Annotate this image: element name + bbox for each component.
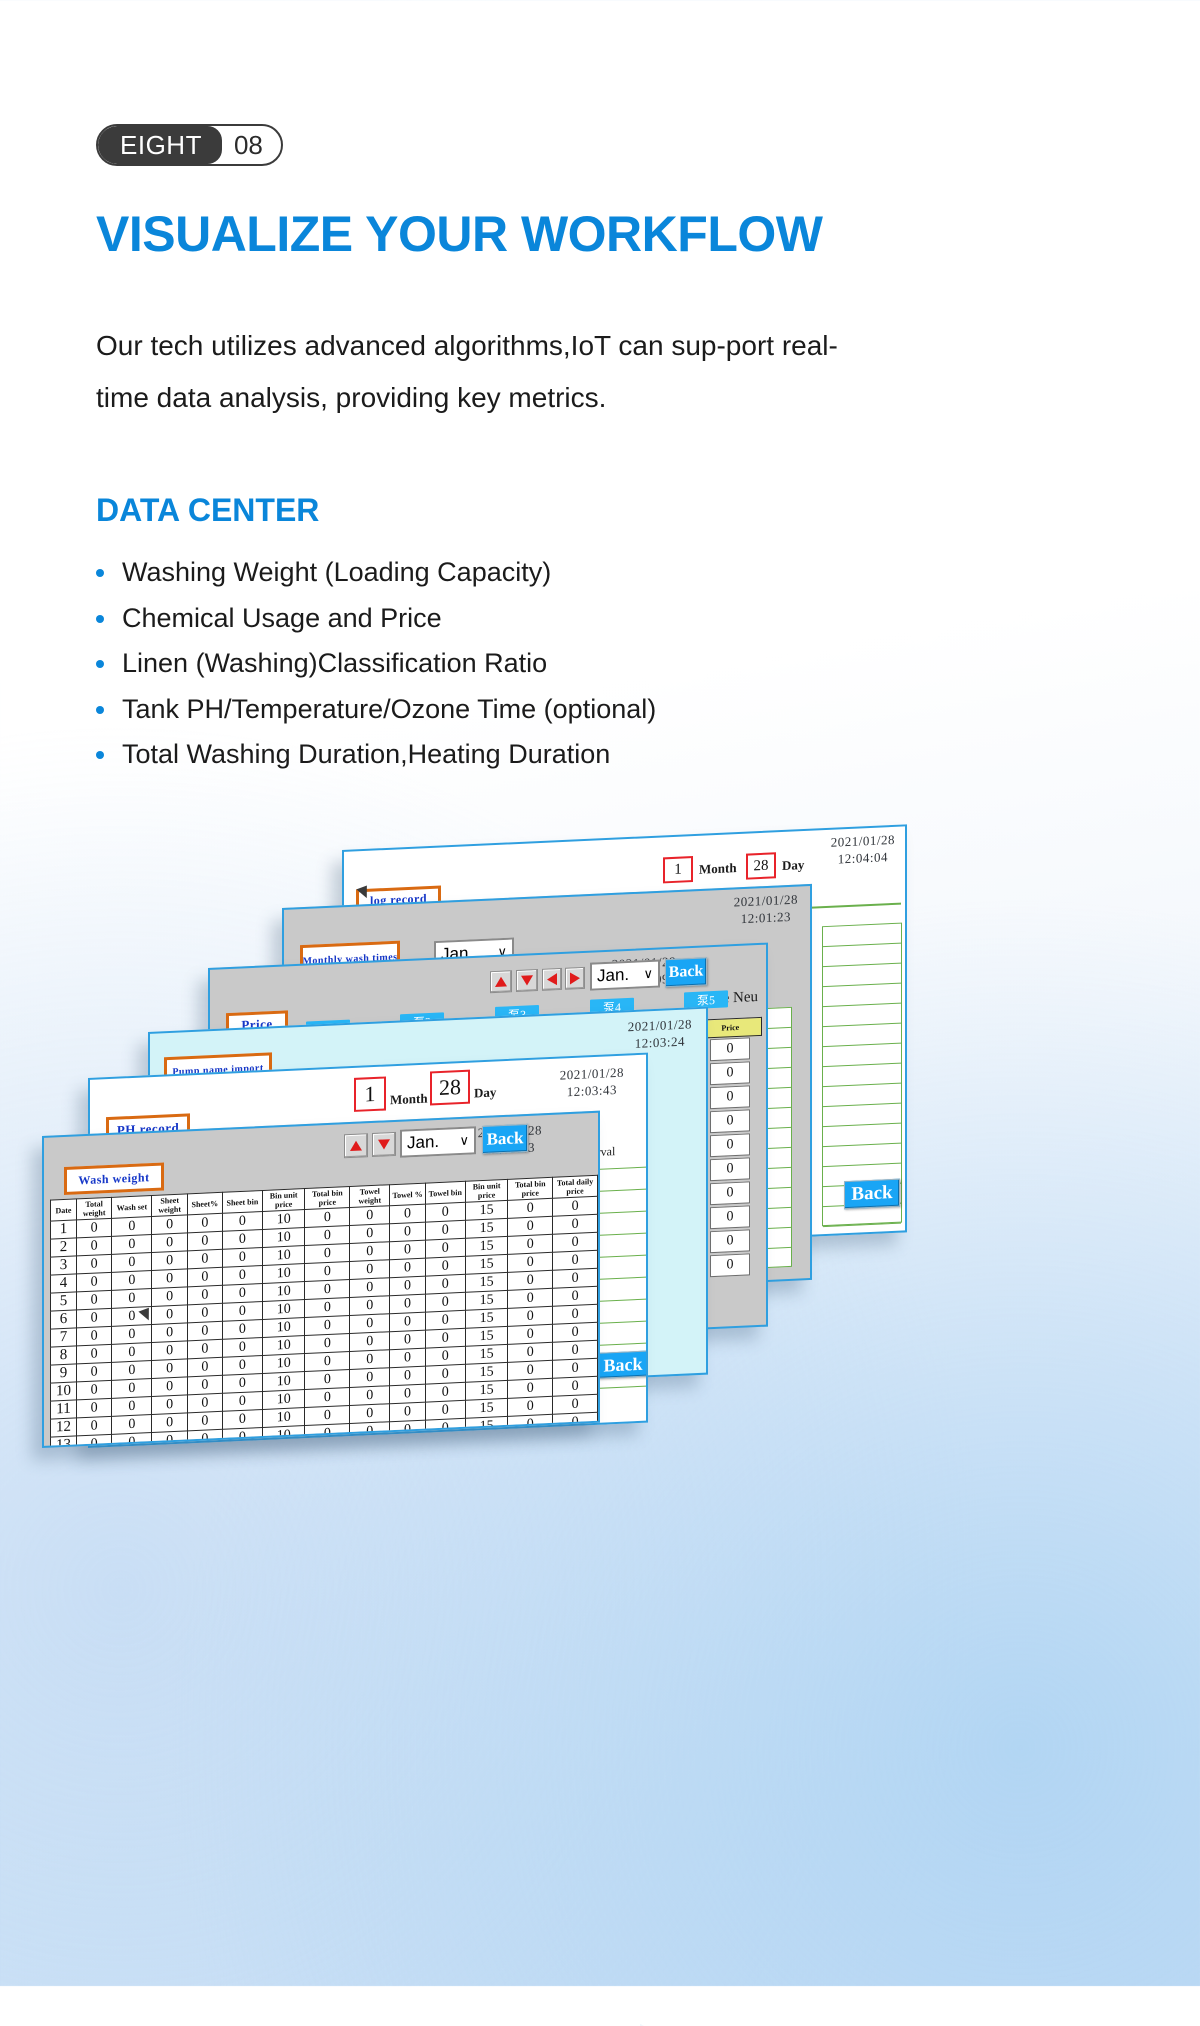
value-cell[interactable]: 0 — [350, 1350, 390, 1370]
value-cell[interactable]: 0 — [508, 1360, 553, 1380]
value-cell[interactable]: 15 — [465, 1236, 507, 1256]
value-cell[interactable]: 0 — [425, 1400, 465, 1420]
value-cell[interactable]: 0 — [710, 1061, 750, 1085]
list-item: Tank PH/Temperature/Ozone Time (optional… — [96, 687, 656, 733]
scroll-down-button[interactable] — [516, 969, 538, 992]
row-index-cell: 11 — [51, 1400, 77, 1419]
value-cell[interactable]: 0 — [350, 1260, 390, 1280]
value-cell[interactable]: 0 — [425, 1328, 465, 1348]
row-index-cell: 8 — [51, 1346, 77, 1365]
value-cell[interactable]: 0 — [508, 1324, 553, 1344]
col-total-daily-price: Total daily price — [553, 1175, 598, 1198]
bullet-dot-icon — [96, 706, 104, 714]
month-select-price[interactable]: Jan. ∨ — [590, 959, 660, 990]
triangle-left-icon — [547, 973, 557, 985]
value-cell[interactable]: 0 — [425, 1436, 465, 1448]
value-cell[interactable]: 0 — [710, 1181, 750, 1205]
value-cell[interactable]: 0 — [553, 1430, 598, 1448]
monthly-wash-timestamp: 2021/01/28 12:01:23 — [734, 891, 798, 928]
value-cell[interactable]: 0 — [112, 1289, 152, 1309]
value-cell[interactable]: 0 — [350, 1206, 390, 1226]
value-cell[interactable]: 0 — [425, 1238, 465, 1258]
value-cell[interactable]: 0 — [390, 1312, 425, 1332]
value-cell[interactable]: 0 — [710, 1205, 750, 1229]
value-cell[interactable]: 0 — [76, 1344, 111, 1364]
value-cell[interactable]: 0 — [508, 1234, 553, 1254]
value-cell[interactable]: 10 — [262, 1390, 304, 1410]
value-cell[interactable]: 0 — [305, 1370, 350, 1390]
value-cell[interactable]: 0 — [187, 1321, 222, 1341]
back-button-price[interactable]: Back — [665, 957, 707, 987]
value-cell[interactable]: 0 — [222, 1337, 262, 1357]
value-cell[interactable]: 0 — [222, 1301, 262, 1321]
value-cell[interactable]: 0 — [76, 1416, 111, 1436]
timestamp-date: 2021/01/28 — [560, 1065, 624, 1083]
value-cell[interactable]: 0 — [508, 1252, 553, 1272]
value-cell[interactable]: 10 — [262, 1246, 304, 1266]
value-cell[interactable]: 0 — [222, 1373, 262, 1393]
value-cell[interactable]: 0 — [305, 1316, 350, 1336]
value-cell[interactable]: 0 — [222, 1247, 262, 1267]
value-cell[interactable]: 0 — [152, 1341, 187, 1361]
col-date: Date — [51, 1199, 77, 1221]
value-cell[interactable]: 0 — [390, 1204, 425, 1224]
value-cell[interactable]: 0 — [553, 1340, 598, 1360]
value-cell[interactable]: 0 — [187, 1375, 222, 1395]
value-cell[interactable]: 0 — [710, 1229, 750, 1253]
triangle-down-icon — [521, 975, 533, 986]
col-bin-unit-price: Bin unit price — [465, 1179, 507, 1202]
value-cell[interactable]: 0 — [305, 1262, 350, 1282]
value-cell[interactable]: 0 — [152, 1431, 187, 1448]
value-cell[interactable]: 0 — [187, 1285, 222, 1305]
value-cell[interactable]: 10 — [262, 1318, 304, 1338]
value-cell[interactable]: 0 — [508, 1216, 553, 1236]
value-cell[interactable]: 0 — [152, 1215, 187, 1235]
month-label: Month — [699, 860, 737, 878]
value-cell[interactable]: 0 — [508, 1270, 553, 1290]
value-cell[interactable]: 0 — [112, 1415, 152, 1435]
value-cell[interactable]: 0 — [350, 1368, 390, 1388]
value-cell[interactable]: 0 — [350, 1296, 390, 1316]
col-total-weight: Total weight — [76, 1197, 111, 1220]
value-cell[interactable]: 15 — [465, 1272, 507, 1292]
value-cell[interactable]: 0 — [390, 1276, 425, 1296]
value-cell[interactable]: 0 — [425, 1310, 465, 1330]
bullet-dot-icon — [96, 615, 104, 623]
value-cell[interactable]: 10 — [262, 1228, 304, 1248]
value-cell[interactable]: 0 — [508, 1342, 553, 1362]
scroll-up-button-wash[interactable] — [344, 1133, 368, 1158]
log-record-timestamp: 2021/01/28 12:04:04 — [831, 831, 895, 868]
list-item: Total Washing Duration,Heating Duration — [96, 732, 656, 778]
value-cell[interactable]: 0 — [553, 1358, 598, 1378]
value-cell[interactable]: 0 — [305, 1244, 350, 1264]
list-item-label: Linen (Washing)Classification Ratio — [122, 648, 547, 678]
day-label: Day — [782, 857, 804, 874]
col-sheet: Sheet% — [187, 1192, 222, 1215]
value-cell[interactable]: 0 — [187, 1267, 222, 1287]
value-cell[interactable]: 0 — [76, 1290, 111, 1310]
value-cell[interactable]: 0 — [553, 1304, 598, 1324]
value-cell[interactable]: 0 — [390, 1420, 425, 1440]
value-cell[interactable]: 0 — [553, 1250, 598, 1270]
value-cell[interactable]: 15 — [465, 1344, 507, 1364]
row-index-cell: 13 — [51, 1436, 77, 1448]
value-cell[interactable]: 0 — [553, 1214, 598, 1234]
value-cell[interactable]: 0 — [187, 1213, 222, 1233]
chevron-down-icon: ∨ — [643, 966, 653, 982]
month-input-ph[interactable]: 1 — [354, 1076, 386, 1111]
bullet-dot-icon — [96, 751, 104, 759]
value-cell[interactable]: 0 — [508, 1378, 553, 1398]
panel-wash-weight[interactable]: 2021/01/28 12:01:43 Jan. ∨ Back Wash wei… — [42, 1111, 600, 1448]
value-cell[interactable]: 0 — [350, 1332, 390, 1352]
value-cell[interactable]: 0 — [222, 1319, 262, 1339]
value-cell[interactable]: 0 — [390, 1366, 425, 1386]
row-index-cell: 9 — [51, 1364, 77, 1383]
value-cell[interactable]: 0 — [390, 1258, 425, 1278]
value-cell[interactable]: 0 — [187, 1303, 222, 1323]
value-cell[interactable]: 0 — [305, 1424, 350, 1444]
value-cell[interactable]: 0 — [425, 1292, 465, 1312]
value-cell[interactable]: 0 — [508, 1288, 553, 1308]
row-index-cell: 7 — [51, 1328, 77, 1347]
value-cell[interactable]: 0 — [187, 1249, 222, 1269]
day-label-ph: Day — [474, 1084, 496, 1101]
value-cell[interactable]: 0 — [553, 1394, 598, 1414]
value-cell[interactable]: 10 — [262, 1336, 304, 1356]
value-cell[interactable]: 0 — [76, 1326, 111, 1346]
month-input[interactable]: 1 — [663, 856, 693, 883]
triangle-up-icon — [350, 1140, 362, 1151]
value-cell[interactable]: 0 — [187, 1393, 222, 1413]
ph-record-timestamp: 2021/01/28 12:03:43 — [560, 1064, 624, 1101]
value-cell[interactable]: 10 — [262, 1300, 304, 1320]
list-item-label: Chemical Usage and Price — [122, 603, 442, 633]
timestamp-date: 2021/01/28 — [628, 1016, 692, 1034]
value-cell[interactable]: 0 — [425, 1202, 465, 1222]
month-select-value: Jan. — [597, 965, 629, 986]
col-wash-set: Wash set — [112, 1196, 152, 1219]
value-cell[interactable]: 0 — [222, 1229, 262, 1249]
row-index-cell: 10 — [51, 1382, 77, 1401]
value-cell[interactable]: 10 — [262, 1282, 304, 1302]
value-cell[interactable]: 0 — [112, 1253, 152, 1273]
month-select-wash-weight[interactable]: Jan. ∨ — [400, 1126, 476, 1157]
back-button-wash-weight[interactable]: Back — [482, 1124, 528, 1154]
value-cell[interactable]: 0 — [222, 1265, 262, 1285]
value-cell[interactable]: 0 — [152, 1287, 187, 1307]
value-cell[interactable]: 0 — [152, 1323, 187, 1343]
value-cell[interactable]: 0 — [425, 1256, 465, 1276]
value-cell[interactable]: 0 — [390, 1384, 425, 1404]
col-sheet-weight: Sheet weight — [152, 1194, 187, 1217]
value-cell[interactable]: 0 — [187, 1357, 222, 1377]
value-cell[interactable]: 10 — [262, 1264, 304, 1284]
value-cell[interactable]: 0 — [425, 1382, 465, 1402]
value-cell[interactable]: 15 — [465, 1434, 507, 1448]
month-label-ph: Month — [390, 1091, 428, 1109]
value-cell[interactable]: 0 — [508, 1198, 553, 1218]
value-cell[interactable]: 15 — [465, 1254, 507, 1274]
value-cell[interactable]: 0 — [76, 1308, 111, 1328]
row-index-cell: 3 — [51, 1256, 77, 1275]
value-cell[interactable]: 0 — [305, 1442, 350, 1448]
value-cell[interactable]: 0 — [710, 1109, 750, 1133]
value-cell[interactable]: 0 — [350, 1314, 390, 1334]
page-title: VISUALIZE YOUR WORKFLOW — [96, 205, 822, 263]
triangle-up-icon — [495, 976, 507, 987]
triangle-right-icon — [570, 972, 580, 984]
value-cell[interactable]: 0 — [152, 1233, 187, 1253]
value-cell[interactable]: 0 — [350, 1404, 390, 1424]
value-cell[interactable]: 0 — [76, 1272, 111, 1292]
value-cell[interactable]: 0 — [710, 1085, 750, 1109]
value-cell[interactable]: 0 — [390, 1438, 425, 1448]
list-item: Washing Weight (Loading Capacity) — [96, 550, 656, 596]
value-cell[interactable]: 0 — [152, 1251, 187, 1271]
value-cell[interactable]: 0 — [508, 1306, 553, 1326]
value-cell[interactable]: 0 — [553, 1268, 598, 1288]
value-cell[interactable]: 0 — [152, 1305, 187, 1325]
col-towel-weight: Towel weight — [350, 1185, 390, 1208]
value-cell[interactable]: 0 — [508, 1432, 553, 1448]
value-cell[interactable]: 15 — [465, 1416, 507, 1436]
value-cell[interactable]: 0 — [553, 1286, 598, 1306]
value-cell[interactable]: 0 — [222, 1409, 262, 1429]
value-cell[interactable]: 0 — [390, 1348, 425, 1368]
value-cell[interactable]: 0 — [553, 1322, 598, 1342]
value-cell[interactable]: 0 — [305, 1388, 350, 1408]
value-cell[interactable]: 0 — [222, 1427, 262, 1447]
value-cell[interactable]: 0 — [112, 1397, 152, 1417]
value-cell[interactable]: 0 — [350, 1386, 390, 1406]
value-cell[interactable]: 0 — [112, 1235, 152, 1255]
badge-number: 08 — [222, 126, 281, 164]
value-cell[interactable]: 0 — [508, 1414, 553, 1434]
value-cell[interactable]: 0 — [553, 1232, 598, 1252]
panel-tag-wash-weight[interactable]: Wash weight — [64, 1162, 164, 1195]
value-cell[interactable]: 15 — [465, 1326, 507, 1346]
value-cell[interactable]: 0 — [425, 1418, 465, 1438]
value-cell[interactable]: 0 — [76, 1398, 111, 1418]
row-index-cell: 2 — [51, 1238, 77, 1257]
feature-list: Washing Weight (Loading Capacity) Chemic… — [96, 550, 656, 778]
value-cell[interactable]: 0 — [710, 1253, 750, 1277]
value-cell[interactable]: 0 — [187, 1411, 222, 1431]
value-cell[interactable]: 0 — [76, 1218, 111, 1238]
value-cell[interactable]: 0 — [390, 1240, 425, 1260]
value-cell[interactable]: 0 — [222, 1211, 262, 1231]
value-cell[interactable]: 15 — [465, 1362, 507, 1382]
scroll-right-button[interactable] — [565, 967, 585, 990]
bullet-dot-icon — [96, 569, 104, 577]
back-button-ph-record[interactable]: Back — [598, 1351, 648, 1379]
value-cell[interactable]: 0 — [390, 1222, 425, 1242]
value-cell[interactable]: 0 — [553, 1376, 598, 1396]
value-cell[interactable]: 0 — [305, 1406, 350, 1426]
row-index-cell: 1 — [51, 1220, 77, 1239]
value-cell[interactable]: 0 — [152, 1269, 187, 1289]
day-input[interactable]: 28 — [746, 852, 776, 879]
badge-word: EIGHT — [98, 126, 222, 164]
timestamp-date: 2021/01/28 — [831, 832, 895, 850]
col-towel: Towel % — [390, 1183, 425, 1206]
value-cell[interactable]: 0 — [305, 1226, 350, 1246]
value-cell[interactable]: 15 — [465, 1200, 507, 1220]
value-cell[interactable]: 0 — [76, 1380, 111, 1400]
hmi-screenshot-stack: 2021/01/28 12:04:04 1 Month 28 Day log r… — [0, 840, 1200, 1986]
value-cell[interactable]: 0 — [187, 1429, 222, 1448]
value-cell[interactable]: 0 — [152, 1395, 187, 1415]
value-cell[interactable]: 0 — [187, 1231, 222, 1251]
value-cell[interactable]: 0 — [710, 1133, 750, 1157]
value-cell[interactable]: 10 — [262, 1354, 304, 1374]
bullet-dot-icon — [96, 660, 104, 668]
value-cell[interactable]: 0 — [390, 1330, 425, 1350]
chevron-down-icon: ∨ — [459, 1133, 469, 1149]
value-cell[interactable]: 0 — [390, 1402, 425, 1422]
timestamp-time: 12:01:23 — [741, 909, 791, 926]
value-cell[interactable]: 0 — [76, 1236, 111, 1256]
value-cell[interactable]: 10 — [262, 1210, 304, 1230]
timestamp-time: 12:03:43 — [567, 1082, 617, 1099]
value-cell[interactable]: 0 — [187, 1339, 222, 1359]
value-cell[interactable]: 0 — [112, 1217, 152, 1237]
value-cell[interactable]: 0 — [508, 1396, 553, 1416]
list-item: Linen (Washing)Classification Ratio — [96, 641, 656, 687]
value-cell[interactable]: 0 — [710, 1157, 750, 1181]
price-zero-column: 0 0 0 0 0 0 0 0 0 0 — [710, 1037, 750, 1279]
value-cell[interactable]: 15 — [465, 1398, 507, 1418]
timestamp-time: 12:03:24 — [635, 1034, 685, 1051]
intro-paragraph: Our tech utilizes advanced algorithms,Io… — [96, 320, 886, 424]
list-item-label: Washing Weight (Loading Capacity) — [122, 557, 551, 587]
scroll-left-button[interactable] — [542, 968, 562, 991]
value-cell[interactable]: 0 — [553, 1412, 598, 1432]
back-button-log-record[interactable]: Back — [844, 1179, 900, 1210]
row-index-cell: 5 — [51, 1292, 77, 1311]
value-cell[interactable]: 0 — [152, 1359, 187, 1379]
value-cell[interactable]: 0 — [390, 1294, 425, 1314]
col-total-bin-price: Total bin price — [508, 1177, 553, 1200]
value-cell[interactable]: 0 — [152, 1377, 187, 1397]
value-cell[interactable]: 10 — [262, 1408, 304, 1428]
value-cell[interactable]: 0 — [425, 1274, 465, 1294]
value-cell[interactable]: 0 — [76, 1254, 111, 1274]
value-cell[interactable]: 0 — [350, 1278, 390, 1298]
value-cell[interactable]: 15 — [465, 1308, 507, 1328]
list-item-label: Total Washing Duration,Heating Duration — [122, 739, 610, 769]
value-cell[interactable]: 0 — [305, 1208, 350, 1228]
value-cell[interactable]: 0 — [305, 1334, 350, 1354]
list-item-label: Tank PH/Temperature/Ozone Time (optional… — [122, 694, 656, 724]
value-cell[interactable]: 10 — [262, 1444, 304, 1448]
value-cell[interactable]: 0 — [350, 1242, 390, 1262]
value-cell[interactable]: 0 — [425, 1346, 465, 1366]
pump-name-timestamp: 2021/01/28 12:03:24 — [628, 1015, 692, 1052]
row-index-cell: 4 — [51, 1274, 77, 1293]
value-cell[interactable]: 0 — [222, 1391, 262, 1411]
value-cell[interactable]: 0 — [350, 1224, 390, 1244]
list-item: Chemical Usage and Price — [96, 596, 656, 642]
timestamp-date: 2021/01/28 — [734, 892, 798, 910]
value-cell[interactable]: 0 — [112, 1271, 152, 1291]
value-cell[interactable]: 0 — [350, 1440, 390, 1448]
value-cell[interactable]: 0 — [222, 1283, 262, 1303]
value-cell[interactable]: 0 — [76, 1362, 111, 1382]
timestamp-time: 12:04:04 — [838, 849, 888, 866]
section-badge: EIGHT 08 — [96, 124, 283, 166]
scroll-up-button[interactable] — [490, 970, 512, 993]
value-cell[interactable]: 0 — [222, 1445, 262, 1448]
value-cell[interactable]: 0 — [112, 1379, 152, 1399]
day-input-ph[interactable]: 28 — [430, 1070, 470, 1106]
value-cell[interactable]: 0 — [425, 1364, 465, 1384]
table-body: 1000001000001500200000100000150030000010… — [51, 1196, 598, 1448]
value-cell[interactable]: 0 — [112, 1325, 152, 1345]
value-cell[interactable]: 0 — [187, 1447, 222, 1448]
section-subtitle: DATA CENTER — [96, 492, 319, 529]
value-cell[interactable]: 0 — [305, 1280, 350, 1300]
value-cell[interactable]: 15 — [465, 1290, 507, 1310]
value-cell[interactable]: 0 — [112, 1361, 152, 1381]
wash-weight-table[interactable]: DateTotal weightWash setSheet weightShee… — [50, 1175, 598, 1448]
month-select-value: Jan. — [407, 1132, 439, 1153]
col-bin-unit-price: Bin unit price — [262, 1189, 304, 1212]
value-cell[interactable]: 0 — [553, 1196, 598, 1216]
col-total-bin-price: Total bin price — [305, 1187, 350, 1210]
row-index-cell: 6 — [51, 1310, 77, 1329]
value-cell[interactable]: 0 — [305, 1352, 350, 1372]
value-cell[interactable]: 0 — [350, 1422, 390, 1442]
col-price-5: Price — [699, 1017, 761, 1038]
triangle-down-icon — [378, 1139, 390, 1150]
value-cell[interactable]: 0 — [152, 1413, 187, 1433]
value-cell[interactable]: 0 — [112, 1343, 152, 1363]
value-cell[interactable]: 15 — [465, 1218, 507, 1238]
value-cell[interactable]: 0 — [305, 1298, 350, 1318]
value-cell[interactable]: 10 — [262, 1372, 304, 1392]
col-sheet-bin: Sheet bin — [222, 1190, 262, 1213]
row-index-cell: 12 — [51, 1418, 77, 1437]
value-cell[interactable]: 0 — [222, 1355, 262, 1375]
value-cell[interactable]: 15 — [465, 1380, 507, 1400]
col-towel-bin: Towel bin — [425, 1181, 465, 1204]
value-cell[interactable]: 0 — [425, 1220, 465, 1240]
value-cell[interactable]: 10 — [262, 1426, 304, 1446]
value-cell[interactable]: 0 — [710, 1037, 750, 1061]
scroll-down-button-wash[interactable] — [372, 1132, 396, 1157]
